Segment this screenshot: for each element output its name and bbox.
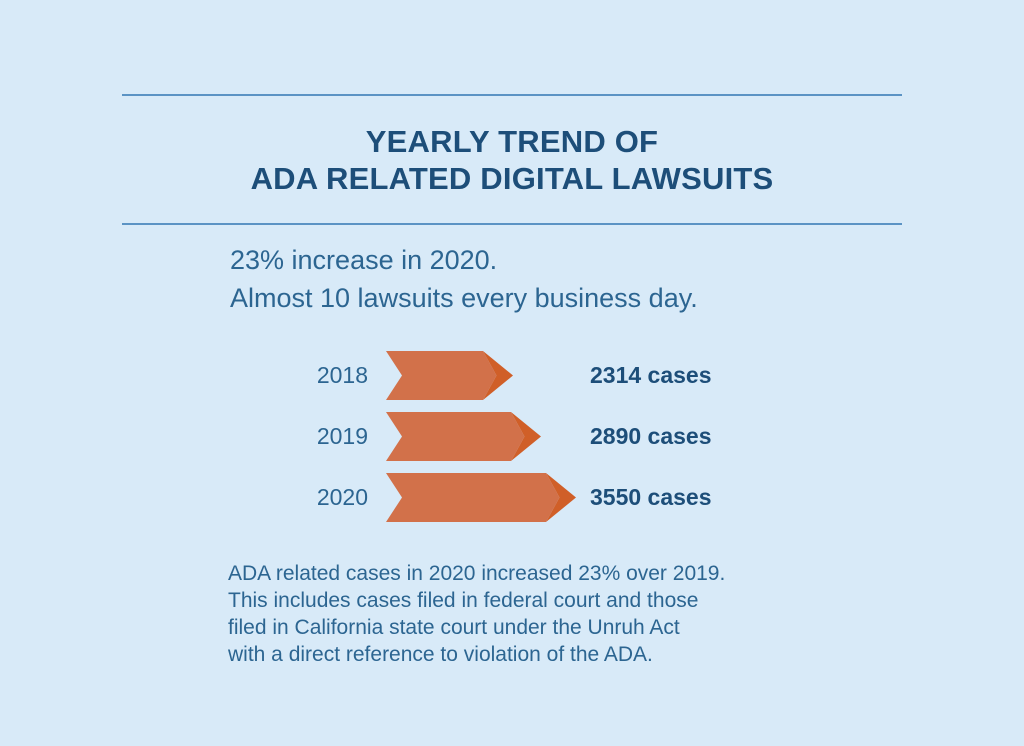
title-block: YEARLY TREND OF ADA RELATED DIGITAL LAWS… <box>122 86 902 233</box>
bar-year-label: 2020 <box>248 467 368 528</box>
bar-body <box>386 473 560 522</box>
page-title: YEARLY TREND OF ADA RELATED DIGITAL LAWS… <box>122 104 902 215</box>
bar-arrow-shape <box>386 473 576 522</box>
title-line-2: ADA RELATED DIGITAL LAWSUITS <box>122 160 902 197</box>
bar-year-label: 2019 <box>248 406 368 467</box>
footnote-line-1: ADA related cases in 2020 increased 23% … <box>228 560 725 587</box>
bar-body <box>386 351 497 400</box>
bar-row: 20192890 cases <box>0 406 1024 467</box>
bar-value-label: 2314 cases <box>590 345 712 406</box>
bar-value-label: 3550 cases <box>590 467 712 528</box>
infographic-canvas: YEARLY TREND OF ADA RELATED DIGITAL LAWS… <box>0 0 1024 746</box>
bar-body <box>386 412 525 461</box>
footnote-line-3: filed in California state court under th… <box>228 614 725 641</box>
bar-year-label: 2018 <box>248 345 368 406</box>
title-line-1: YEARLY TREND OF <box>122 123 902 160</box>
lead-line-1: 23% increase in 2020. <box>230 241 698 279</box>
bar-chart: 20182314 cases20192890 cases20203550 cas… <box>0 345 1024 528</box>
title-rule-bottom <box>122 223 902 225</box>
bar-arrow-shape <box>386 351 513 400</box>
footnote-line-4: with a direct reference to violation of … <box>228 641 725 668</box>
bar-arrow-shape <box>386 412 541 461</box>
lead-statement: 23% increase in 2020. Almost 10 lawsuits… <box>230 241 698 317</box>
footnote: ADA related cases in 2020 increased 23% … <box>228 560 725 668</box>
lead-line-2: Almost 10 lawsuits every business day. <box>230 279 698 317</box>
bar-row: 20182314 cases <box>0 345 1024 406</box>
title-rule-top <box>122 94 902 96</box>
bar-row: 20203550 cases <box>0 467 1024 528</box>
footnote-line-2: This includes cases filed in federal cou… <box>228 587 725 614</box>
bar-value-label: 2890 cases <box>590 406 712 467</box>
